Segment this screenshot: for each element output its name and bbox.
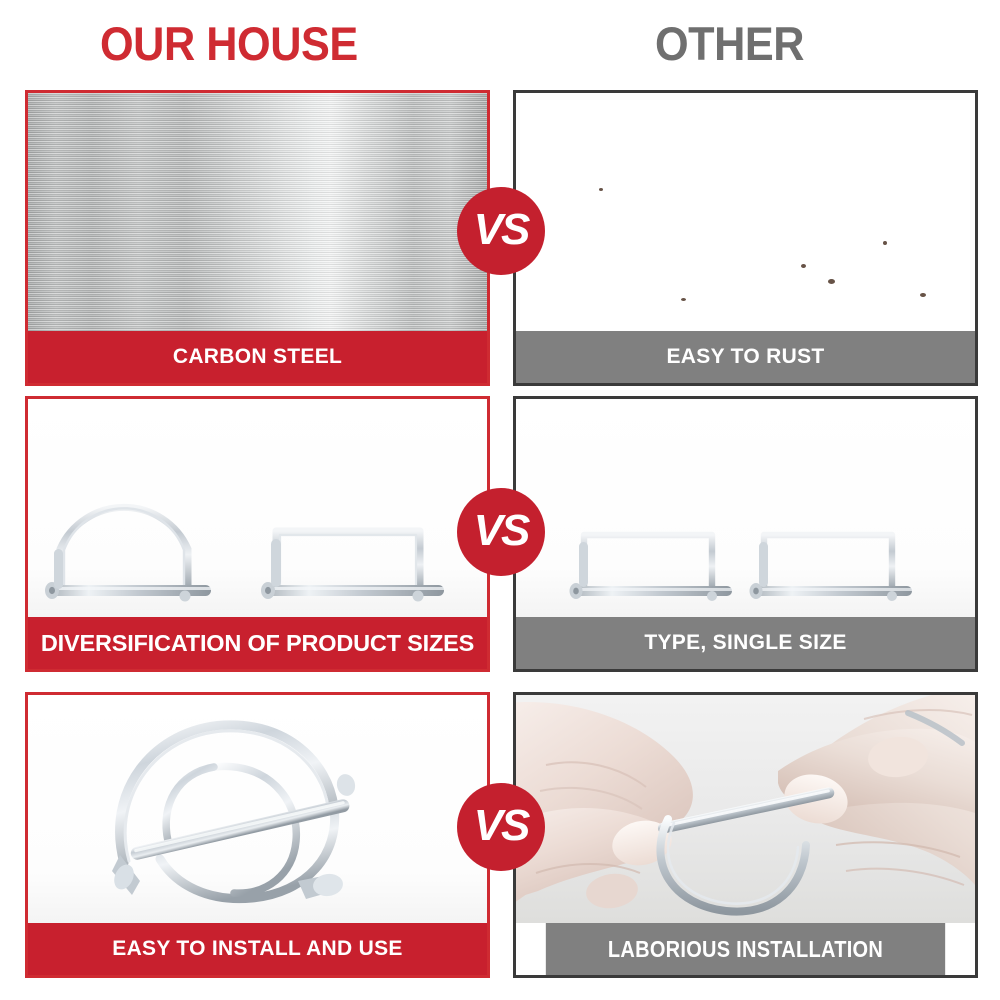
lock-pins-illustration	[28, 399, 487, 617]
caption-laborious-installation: LABORIOUS INSTALLATION	[546, 923, 945, 975]
vs-badge-label: VS	[474, 208, 529, 252]
rust-speck-icon	[801, 264, 806, 268]
comparison-infographic: OUR HOUSE OTHER CARBON STEEL EASY TO RUS…	[0, 0, 1000, 1000]
image-hands-struggling-with-pin	[516, 695, 975, 923]
column-title-our-house: OUR HOUSE	[100, 14, 358, 74]
image-brushed-carbon-steel	[28, 93, 487, 331]
image-closeup-round-lock-pin	[28, 695, 487, 923]
image-two-identical-square-pins	[516, 399, 975, 617]
image-rusted-metal	[516, 93, 975, 331]
square-lock-pin	[750, 535, 913, 601]
caption-type-single-size: TYPE, SINGLE SIZE	[516, 617, 975, 669]
panel-other-easy-to-rust: EASY TO RUST	[513, 90, 978, 386]
rust-speck-icon	[681, 298, 686, 301]
hands-illustration	[516, 695, 975, 923]
panel-other-laborious-install: LABORIOUS INSTALLATION	[513, 692, 978, 978]
square-lock-pin	[570, 535, 733, 601]
rust-speck-icon	[883, 241, 887, 245]
rust-speck-icon	[920, 293, 926, 297]
panel-ours-easy-install: EASY TO INSTALL AND USE	[25, 692, 490, 978]
vs-badge-row-1: VS	[457, 187, 545, 275]
vs-badge-row-3: VS	[457, 783, 545, 871]
caption-easy-to-install-and-use: EASY TO INSTALL AND USE	[28, 923, 487, 975]
vs-badge-row-2: VS	[457, 488, 545, 576]
round-lock-pin	[45, 507, 211, 601]
caption-carbon-steel: CARBON STEEL	[28, 331, 487, 383]
panel-ours-carbon-steel: CARBON STEEL	[25, 90, 490, 386]
identical-square-pins-illustration	[516, 399, 975, 617]
caption-easy-to-rust: EASY TO RUST	[516, 331, 975, 383]
rust-speck-icon	[828, 279, 835, 284]
column-title-other: OTHER	[655, 14, 804, 74]
vs-badge-label: VS	[474, 509, 529, 553]
closeup-lock-pin-illustration	[28, 695, 487, 923]
panel-other-single-size: TYPE, SINGLE SIZE	[513, 396, 978, 672]
vs-badge-label: VS	[474, 804, 529, 848]
rust-speck-icon	[599, 188, 603, 191]
panel-ours-product-sizes: DIVERSIFICATION OF PRODUCT SIZES	[25, 396, 490, 672]
square-lock-pin	[261, 531, 444, 602]
caption-diversification-of-product-sizes: DIVERSIFICATION OF PRODUCT SIZES	[28, 617, 487, 669]
column-headers: OUR HOUSE OTHER	[0, 0, 1000, 90]
image-round-and-square-pins	[28, 399, 487, 617]
